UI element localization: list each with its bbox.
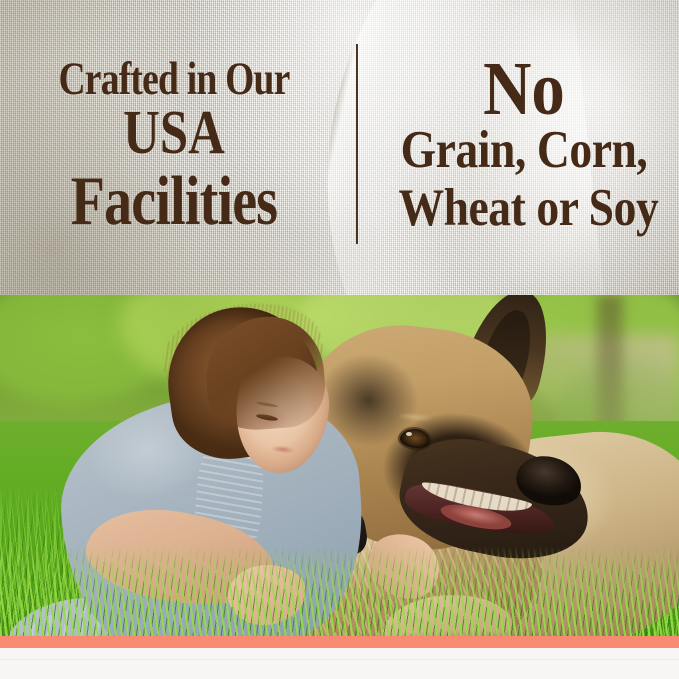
claim-usa-line-3: Facilities [46,162,302,242]
claim-usa-facilities: Crafted in Our USA Facilities [14,50,334,240]
claim-no-grain-line-3: Wheat or Soy [398,178,649,238]
footer-divider [0,659,679,660]
burlap-banner: Crafted in Our USA Facilities No Grain, … [0,0,679,295]
claim-no-grain: No Grain, Corn, Wheat or Soy [378,48,670,243]
accent-bar [0,636,679,648]
claim-usa-line-2: USA [43,98,305,169]
footer-area [0,648,679,679]
lifestyle-photo [0,295,679,636]
dog-eye-glint [406,432,412,436]
foreground-grass [0,546,679,636]
vertical-divider-icon [356,44,358,244]
tree-trunk [597,295,623,435]
product-infographic: Crafted in Our USA Facilities No Grain, … [0,0,679,679]
claim-no-grain-line-2: Grain, Corn, [398,120,649,180]
